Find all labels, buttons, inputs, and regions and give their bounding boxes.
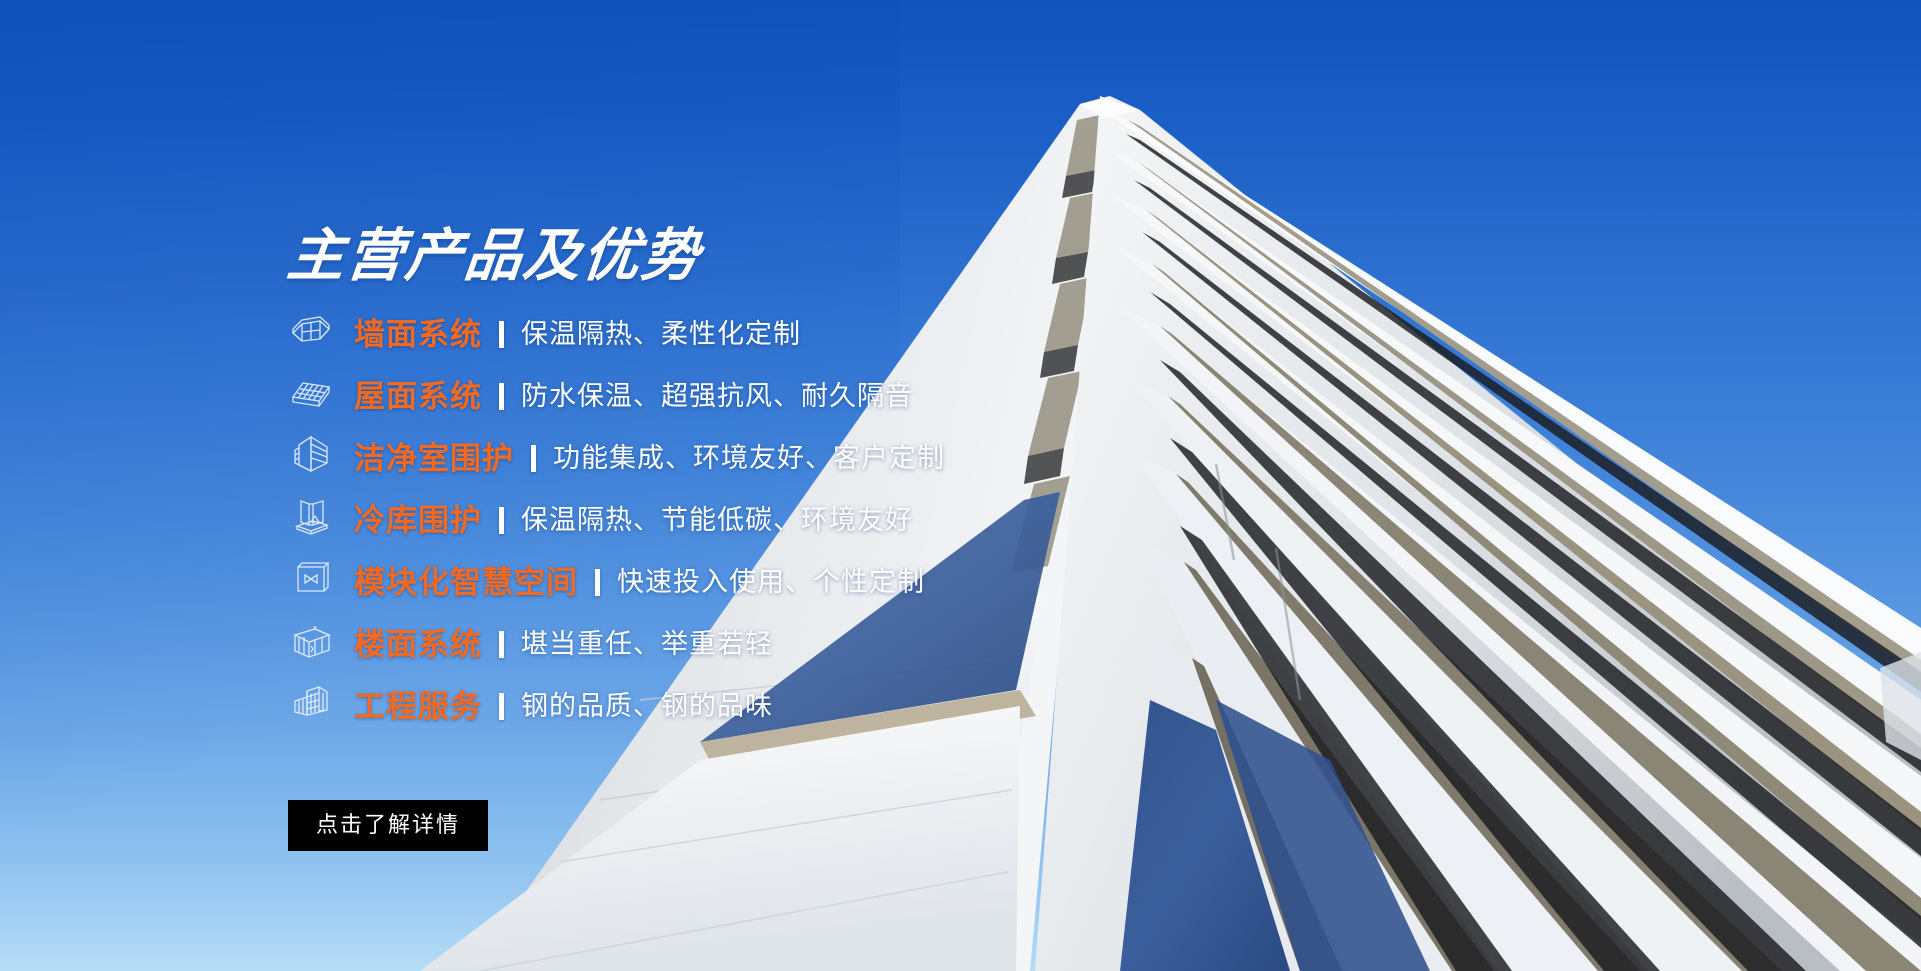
list-item[interactable]: 屋面系统 防水保温、超强抗风、耐久隔音 bbox=[288, 362, 1088, 424]
list-item[interactable]: 洁净室围护 功能集成、环境友好、客户定制 bbox=[288, 424, 1088, 486]
building-right-face bbox=[1035, 96, 1921, 971]
product-title: 墙面系统 bbox=[354, 309, 482, 354]
product-desc: 钢的品质、钢的品味 bbox=[521, 684, 773, 723]
product-desc: 快速投入使用、个性定制 bbox=[617, 560, 925, 599]
page-title: 主营产品及优势 bbox=[284, 210, 706, 292]
cleanroom-icon bbox=[288, 432, 334, 478]
product-desc: 防水保温、超强抗风、耐久隔音 bbox=[521, 374, 913, 413]
roof-system-icon bbox=[288, 370, 334, 416]
product-title: 冷库围护 bbox=[354, 495, 482, 540]
separator-bar bbox=[499, 321, 504, 348]
list-item[interactable]: 模块化智慧空间 快速投入使用、个性定制 bbox=[288, 548, 1088, 610]
product-title: 工程服务 bbox=[354, 681, 482, 726]
product-title: 模块化智慧空间 bbox=[354, 557, 578, 602]
separator-bar bbox=[499, 631, 504, 658]
banner-content: 主营产品及优势 墙面系统 保温隔热、柔性化定制 bbox=[0, 0, 1100, 971]
list-item[interactable]: 工程服务 钢的品质、钢的品味 bbox=[288, 672, 1088, 734]
wall-system-icon bbox=[288, 308, 334, 354]
learn-more-button[interactable]: 点击了解详情 bbox=[288, 800, 488, 851]
product-desc: 堪当重任、举重若轻 bbox=[521, 622, 773, 661]
separator-bar bbox=[595, 569, 600, 596]
list-item[interactable]: 楼面系统 堪当重任、举重若轻 bbox=[288, 610, 1088, 672]
separator-bar bbox=[499, 693, 504, 720]
product-list: 墙面系统 保温隔热、柔性化定制 屋面系统 防水保温、超强抗风、 bbox=[288, 300, 1088, 734]
modular-space-icon bbox=[288, 556, 334, 602]
separator-bar bbox=[499, 507, 504, 534]
separator-bar bbox=[499, 383, 504, 410]
product-title: 洁净室围护 bbox=[354, 433, 514, 478]
product-title: 楼面系统 bbox=[354, 619, 482, 664]
separator-bar bbox=[531, 445, 536, 472]
list-item[interactable]: 冷库围护 保温隔热、节能低碳、环境友好 bbox=[288, 486, 1088, 548]
product-desc: 保温隔热、柔性化定制 bbox=[521, 312, 801, 351]
list-item[interactable]: 墙面系统 保温隔热、柔性化定制 bbox=[288, 300, 1088, 362]
product-desc: 保温隔热、节能低碳、环境友好 bbox=[521, 498, 913, 537]
product-advantage-banner: 主营产品及优势 墙面系统 保温隔热、柔性化定制 bbox=[0, 0, 1921, 971]
product-title: 屋面系统 bbox=[354, 371, 482, 416]
floor-system-icon bbox=[288, 618, 334, 664]
cold-storage-icon bbox=[288, 494, 334, 540]
product-desc: 功能集成、环境友好、客户定制 bbox=[553, 436, 945, 475]
engineering-icon bbox=[288, 680, 334, 726]
